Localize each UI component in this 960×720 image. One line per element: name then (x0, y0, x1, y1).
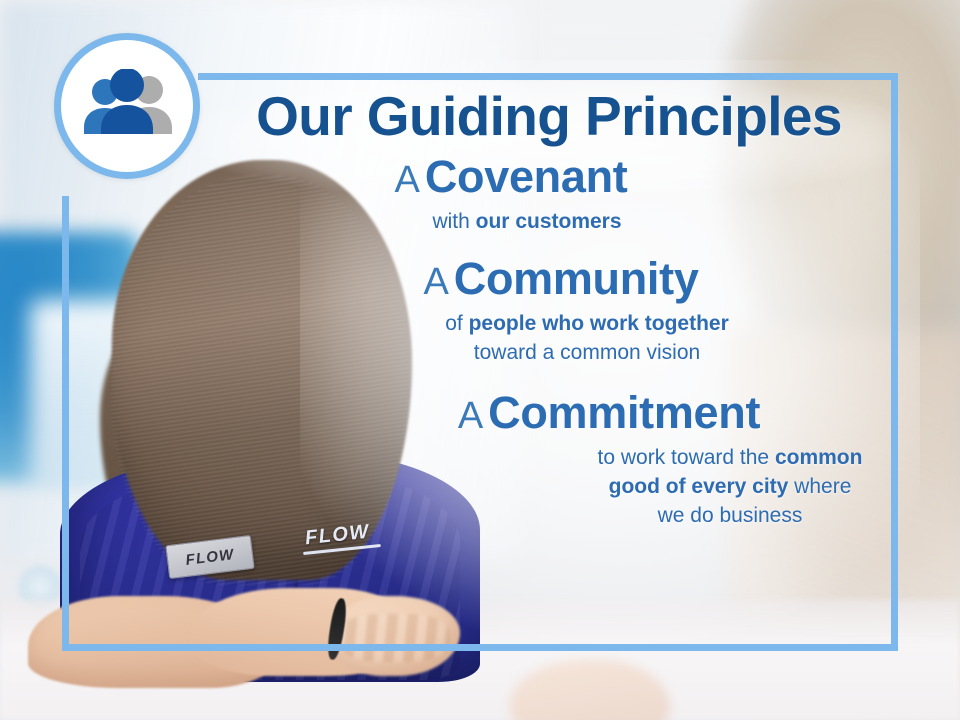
description-line: toward a common vision (238, 339, 936, 368)
emphasis-text: our customers (476, 210, 622, 233)
principle-community-description: of people who work togethertoward a comm… (238, 310, 936, 368)
principle-covenant-description: with our customers (178, 208, 876, 237)
description-line: with our customers (178, 208, 876, 237)
principle-commitment-heading: A Commitment (260, 389, 958, 437)
description-line: to work toward the common (470, 444, 960, 473)
guiding-principles-graphic: FLOW FLOW (0, 0, 960, 720)
emphasis-text: good of every city (609, 475, 789, 498)
plain-text: of (445, 312, 468, 335)
page-title: Our Guiding Principles (200, 88, 898, 145)
emphasis-text: common (775, 446, 863, 469)
people-group-icon (75, 69, 179, 143)
principle-commitment: A Commitment to work toward the commongo… (200, 389, 898, 531)
plain-text: with (432, 210, 475, 233)
principle-community-keyword: Community (454, 253, 699, 304)
principle-commitment-description: to work toward the commongood of every c… (470, 444, 960, 531)
description-line: we do business (470, 502, 960, 531)
principle-covenant-article: A (395, 159, 421, 201)
principle-commitment-article: A (458, 395, 484, 437)
principle-covenant: A Covenant with our customers (200, 153, 898, 237)
principle-covenant-keyword: Covenant (425, 151, 628, 202)
principle-covenant-heading: A Covenant (162, 153, 860, 201)
principle-community-article: A (423, 261, 449, 303)
plain-text: we do business (658, 504, 803, 527)
principle-community: A Community of people who work togethert… (200, 255, 898, 368)
principles-content: Our Guiding Principles A Covenant with o… (200, 86, 898, 642)
principle-community-heading: A Community (212, 255, 910, 303)
plain-text: where (788, 475, 851, 498)
description-line: of people who work together (238, 310, 936, 339)
description-line: good of every city where (470, 473, 960, 502)
emphasis-text: people who work together (469, 312, 729, 335)
plain-text: toward a common vision (474, 341, 700, 364)
principle-commitment-keyword: Commitment (488, 387, 760, 438)
plain-text: to work toward the (598, 446, 775, 469)
